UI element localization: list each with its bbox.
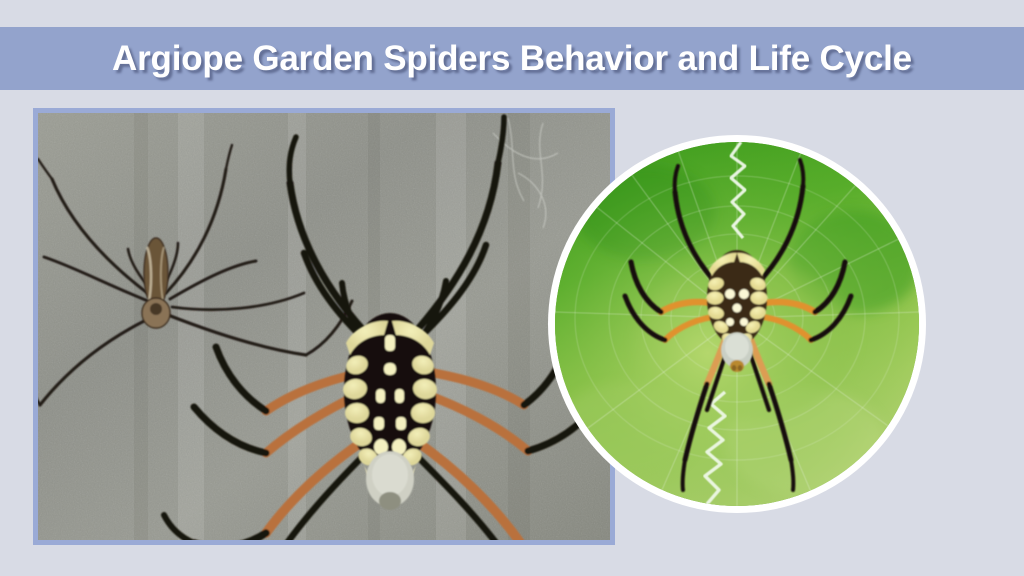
left-photo-image <box>38 113 610 540</box>
title-banner: Argiope Garden Spiders Behavior and Life… <box>0 27 1024 90</box>
two-spiders-illustration <box>38 113 610 540</box>
left-photo-frame <box>33 108 615 545</box>
spider-on-web-illustration <box>555 142 919 506</box>
page-title: Argiope Garden Spiders Behavior and Life… <box>112 39 912 79</box>
circle-photo-image <box>555 142 919 506</box>
circle-photo-frame <box>548 135 926 513</box>
